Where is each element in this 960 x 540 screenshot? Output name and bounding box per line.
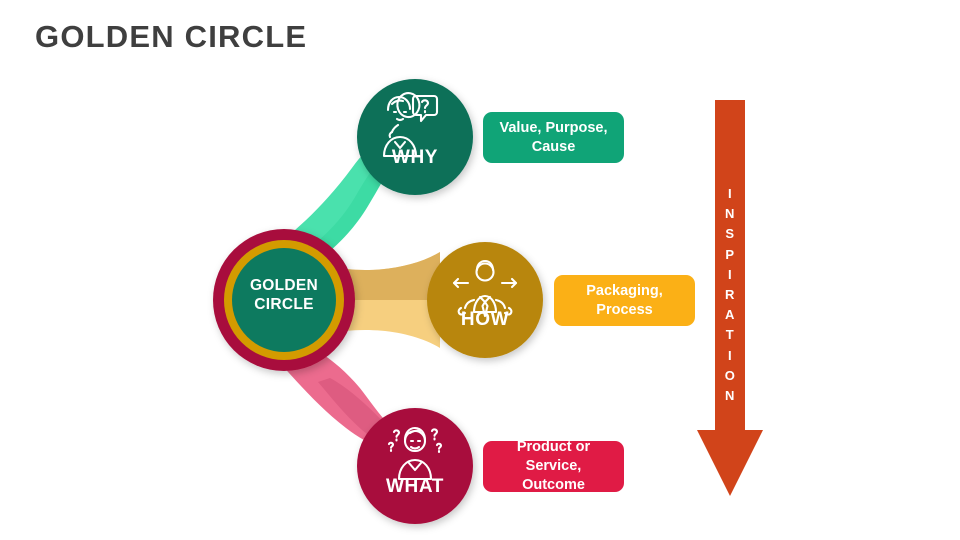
why-pill-line2: Cause <box>500 138 608 157</box>
inspiration-arrow-shape <box>697 100 763 496</box>
how-label-pill[interactable]: Packaging, Process <box>554 275 695 326</box>
node-how[interactable] <box>427 242 543 358</box>
golden-circle-diagram <box>0 0 960 540</box>
what-circle[interactable] <box>357 408 473 524</box>
how-pill-line1: Packaging, <box>586 282 663 301</box>
how-pill-line2: Process <box>586 301 663 320</box>
why-pill-line1: Value, Purpose, <box>500 119 608 138</box>
inspiration-arrow <box>690 100 770 500</box>
hub-core[interactable] <box>232 248 336 352</box>
what-label-pill[interactable]: Product or Service, Outcome <box>483 441 624 492</box>
hub-group[interactable] <box>213 229 355 371</box>
slide-canvas: GOLDEN CIRCLE <box>0 0 960 540</box>
node-why[interactable] <box>357 79 473 195</box>
what-pill-line2: Outcome <box>493 476 614 495</box>
why-label-pill[interactable]: Value, Purpose, Cause <box>483 112 624 163</box>
how-circle[interactable] <box>427 242 543 358</box>
node-what[interactable] <box>357 408 473 524</box>
what-pill-line1: Product or Service, <box>493 438 614 476</box>
